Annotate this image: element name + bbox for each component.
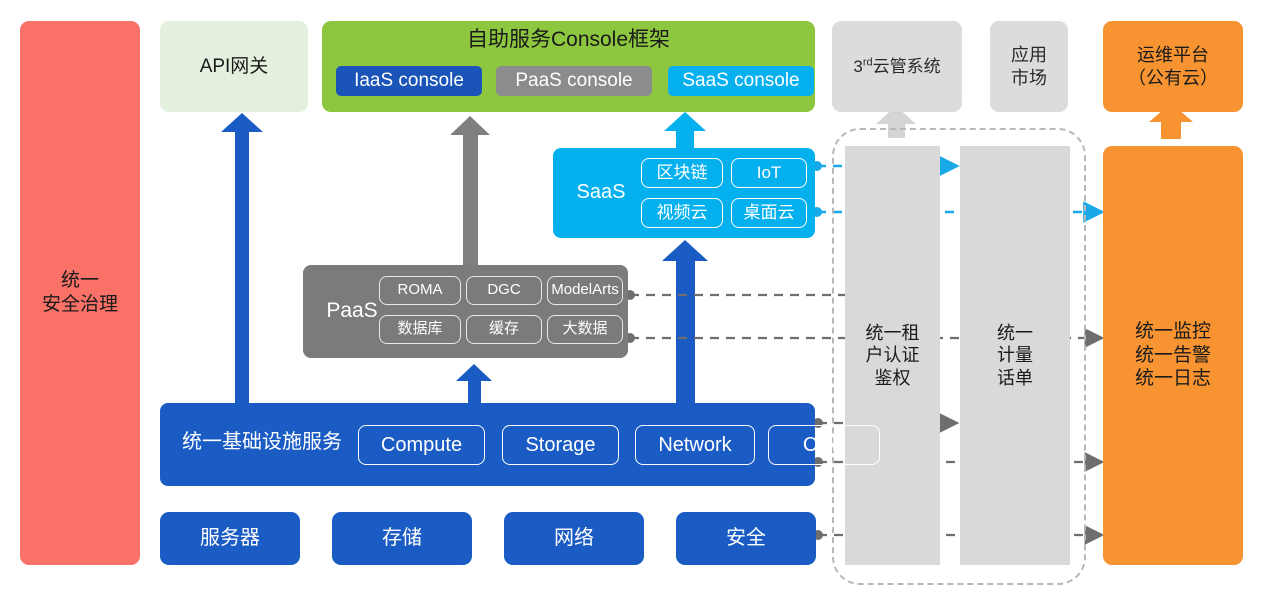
api-gateway-label: API网关	[200, 55, 269, 79]
unified-metering-column[interactable]: 统一 计量 话单	[960, 146, 1070, 565]
ops-platform-block[interactable]: 运维平台 （公有云）	[1103, 21, 1243, 112]
paas-console-chip[interactable]: PaaS console	[496, 66, 652, 96]
saas-label: SaaS	[565, 180, 637, 205]
ops-platform-line2: （公有云）	[1128, 67, 1218, 90]
metering-line1: 统一	[997, 322, 1033, 345]
base-resource-server[interactable]: 服务器	[160, 512, 300, 565]
iaas-console-chip[interactable]: IaaS console	[336, 66, 482, 96]
app-market-line1: 应用	[1011, 44, 1047, 67]
base-resource-network[interactable]: 网络	[504, 512, 644, 565]
console-framework-title: 自助服务Console框架	[322, 27, 815, 53]
auth-line3: 鉴权	[866, 367, 920, 390]
paas-chip-database[interactable]: 数据库	[379, 315, 461, 344]
unified-infrastructure-block[interactable]: 统一基础设施服务 Compute Storage Network CCE	[160, 403, 815, 486]
app-market-block[interactable]: 应用 市场	[990, 21, 1068, 112]
ops-col-line1: 统一监控	[1135, 320, 1211, 344]
security-governance-block[interactable]: 统一 安全治理	[20, 21, 140, 565]
arrow-paas-to-console	[450, 116, 490, 266]
security-governance-line2: 安全治理	[42, 293, 118, 317]
infra-chip-network[interactable]: Network	[635, 425, 755, 465]
ops-col-line3: 统一日志	[1135, 367, 1211, 391]
base-resource-storage[interactable]: 存储	[332, 512, 472, 565]
api-gateway-block[interactable]: API网关	[160, 21, 308, 112]
console-framework-block[interactable]: 自助服务Console框架 IaaS console PaaS console …	[322, 21, 815, 112]
unified-monitoring-column[interactable]: 统一监控 统一告警 统一日志	[1103, 146, 1243, 565]
metering-line2: 计量	[997, 344, 1033, 367]
saas-block[interactable]: SaaS 区块链 IoT 视频云 桌面云	[553, 148, 815, 238]
ops-platform-line1: 运维平台	[1128, 44, 1218, 67]
arrow-infra-to-api-gateway	[221, 113, 263, 404]
saas-console-chip[interactable]: SaaS console	[668, 66, 814, 96]
metering-line3: 话单	[997, 367, 1033, 390]
security-governance-line1: 统一	[42, 269, 118, 293]
third-party-label: 3rd云管系统	[853, 56, 940, 77]
paas-chip-bigdata[interactable]: 大数据	[547, 315, 623, 344]
arrow-infra-to-saas	[662, 240, 708, 404]
third-party-prefix: 3	[853, 57, 862, 76]
saas-chip-iot[interactable]: IoT	[731, 158, 807, 188]
infra-chip-storage[interactable]: Storage	[502, 425, 619, 465]
saas-chip-blockchain[interactable]: 区块链	[641, 158, 723, 188]
base-resource-security[interactable]: 安全	[676, 512, 816, 565]
architecture-diagram: 统一 安全治理 API网关 自助服务Console框架 IaaS console…	[0, 0, 1265, 605]
third-party-superscript: rd	[863, 56, 873, 68]
paas-chip-cache[interactable]: 缓存	[466, 315, 542, 344]
auth-line2: 户认证	[866, 344, 920, 367]
paas-chip-modelarts[interactable]: ModelArts	[547, 276, 623, 305]
third-party-suffix: 云管系统	[873, 57, 941, 76]
third-party-cloud-mgmt-block[interactable]: 3rd云管系统	[832, 21, 962, 112]
infra-chip-cce[interactable]: CCE	[768, 425, 880, 465]
paas-chip-dgc[interactable]: DGC	[466, 276, 542, 305]
saas-chip-desktop-cloud[interactable]: 桌面云	[731, 198, 807, 228]
paas-block[interactable]: PaaS ROMA DGC ModelArts 数据库 缓存 大数据	[303, 265, 628, 358]
ops-col-line2: 统一告警	[1135, 344, 1211, 368]
infra-chip-compute[interactable]: Compute	[358, 425, 485, 465]
auth-line1: 统一租	[866, 322, 920, 345]
app-market-line2: 市场	[1011, 67, 1047, 90]
paas-chip-roma[interactable]: ROMA	[379, 276, 461, 305]
unified-tenant-auth-column[interactable]: 统一租 户认证 鉴权	[845, 146, 940, 565]
arrow-infra-to-paas	[456, 364, 492, 404]
infrastructure-label: 统一基础设施服务	[174, 430, 350, 455]
arrow-saas-to-console	[664, 112, 706, 149]
saas-chip-video-cloud[interactable]: 视频云	[641, 198, 723, 228]
